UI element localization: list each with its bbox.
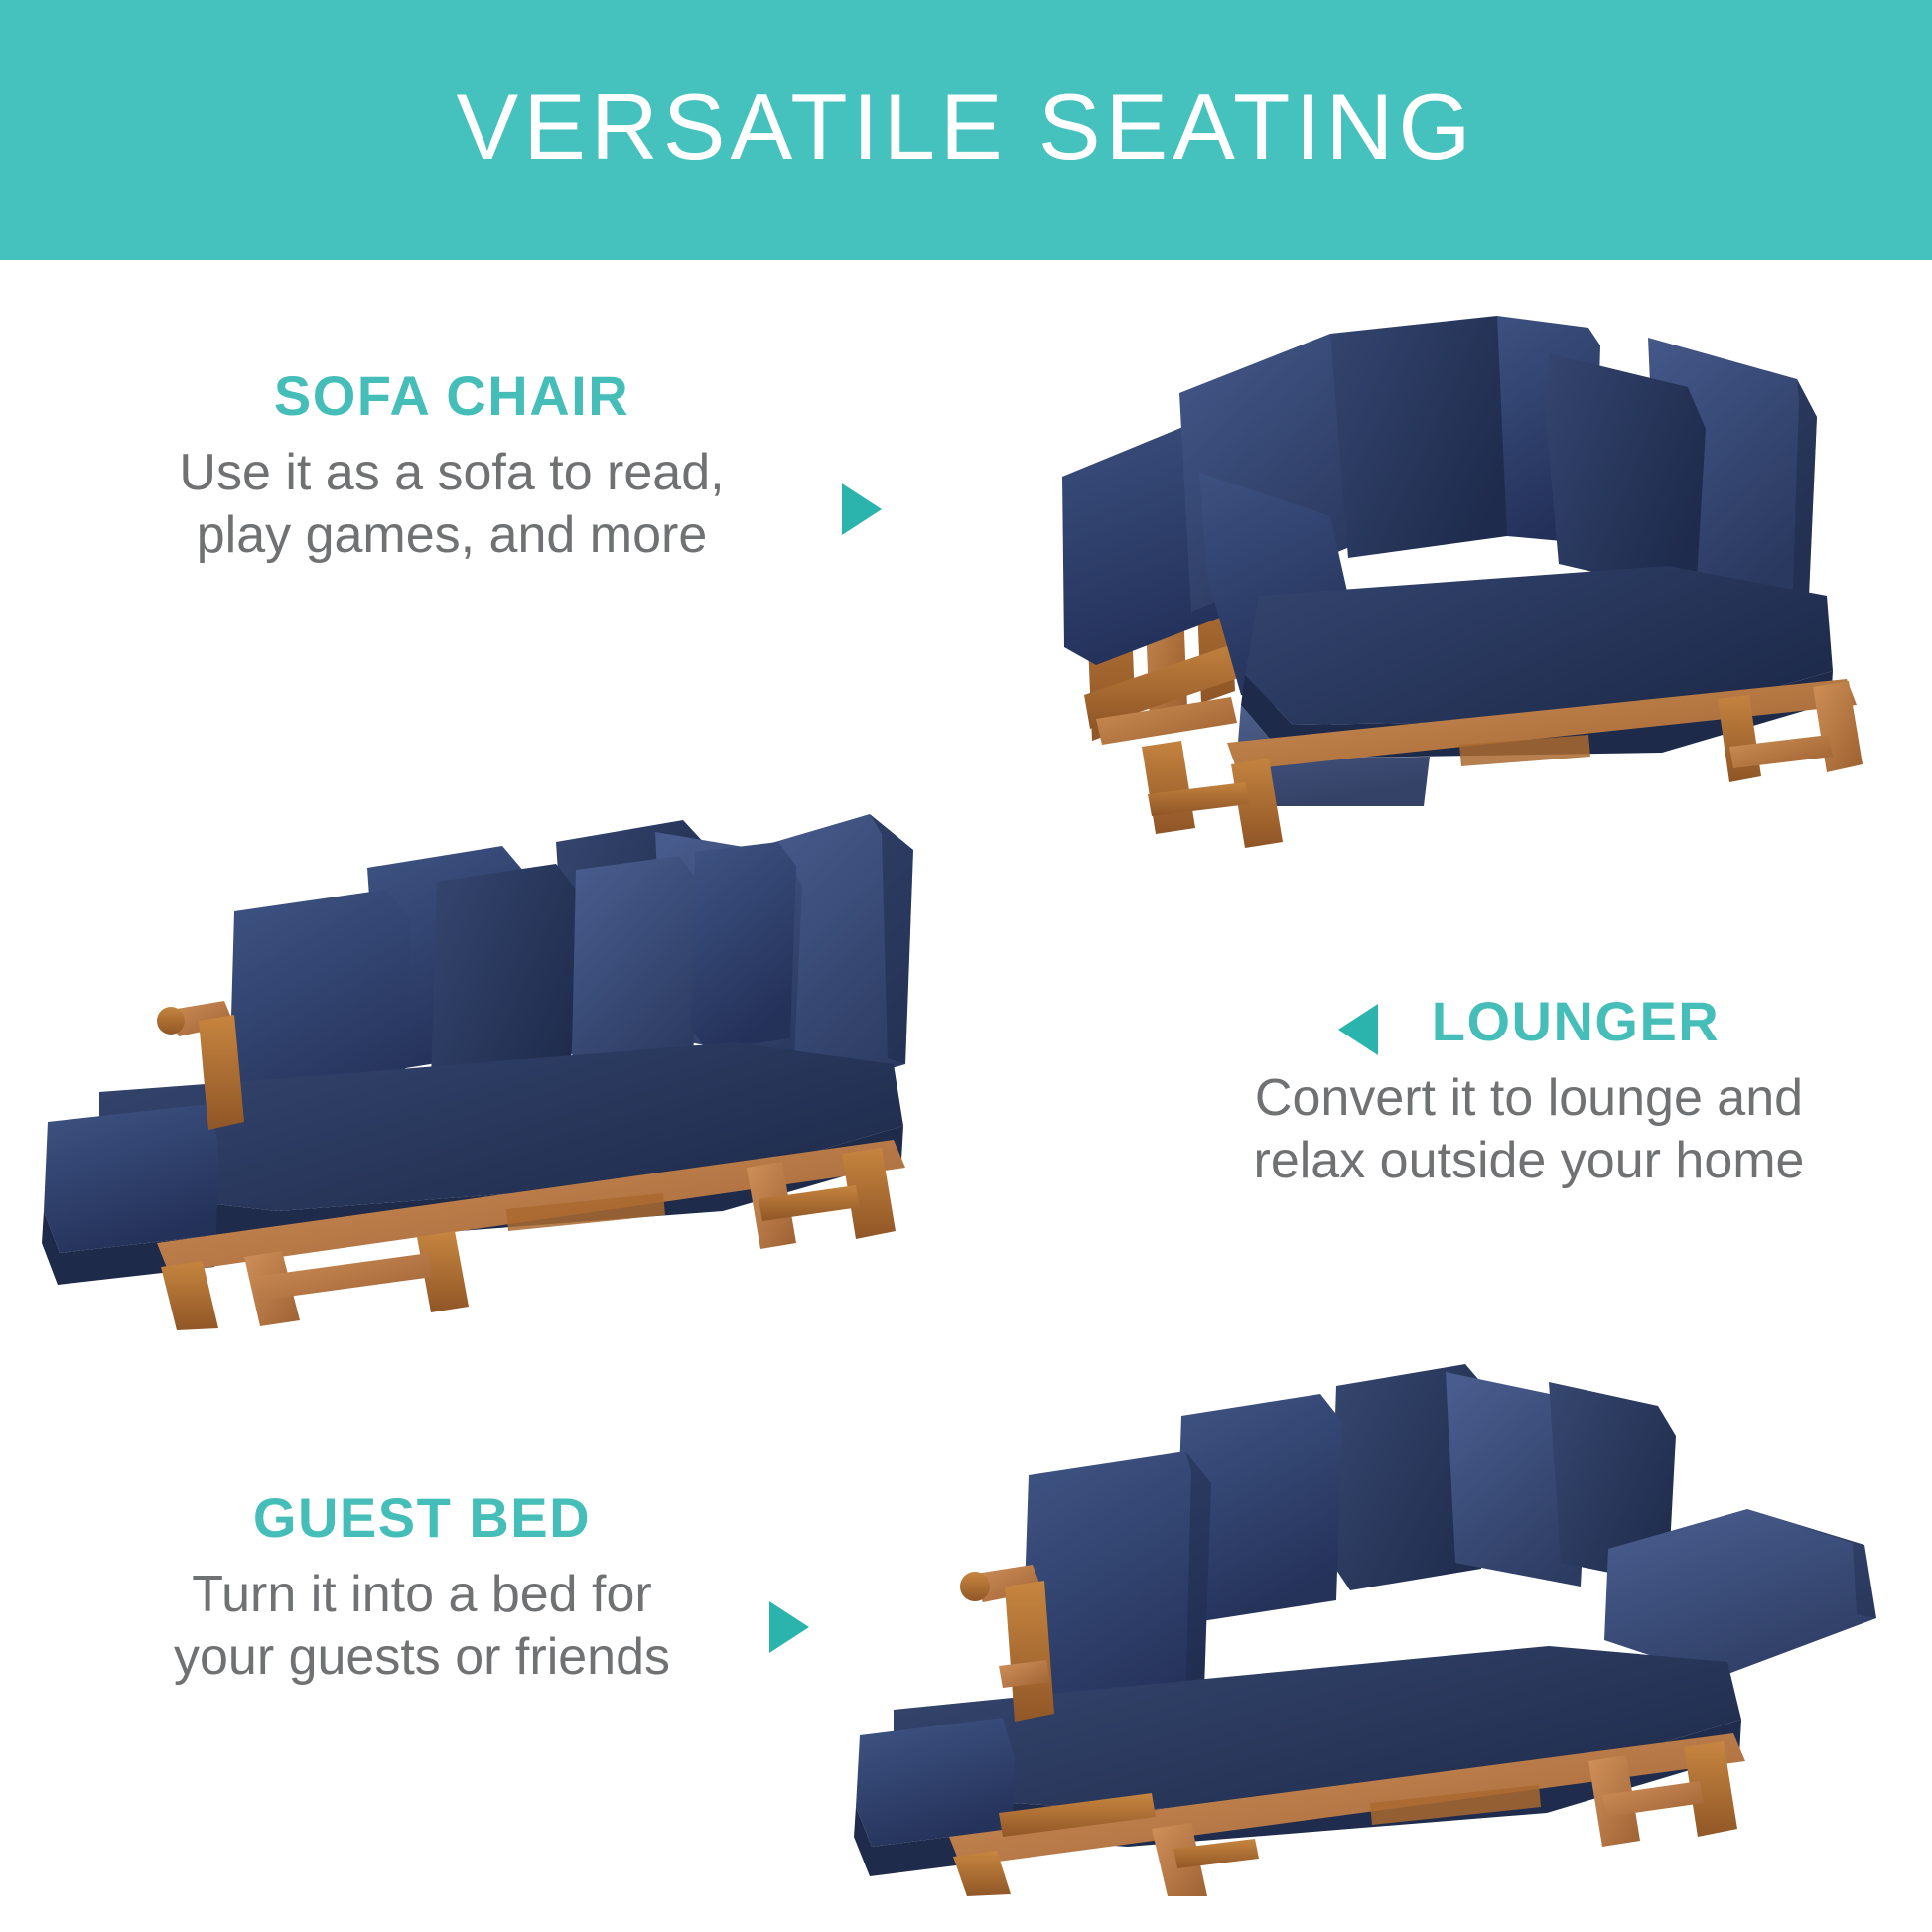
feature-description-lounger: Convert it to lounge and relax outside y…: [1172, 1067, 1886, 1193]
feature-description-sofa-chair: Use it as a sofa to read, play games, an…: [89, 442, 814, 568]
feature-desc-line-1: Turn it into a bed for: [60, 1564, 784, 1626]
pillow-3: [572, 856, 699, 1078]
pillow-4: [691, 842, 796, 1050]
feature-desc-line-1: Convert it to lounge and: [1172, 1067, 1886, 1130]
feature-heading-sofa-chair: SOFA CHAIR: [89, 367, 814, 426]
feature-heading-guest-bed: GUEST BED: [60, 1489, 784, 1548]
product-photo-lounger: [40, 794, 1023, 1330]
feature-block-lounger: LOUNGER Convert it to lounge and relax o…: [1172, 993, 1886, 1193]
feature-desc-line-2: relax outside your home: [1172, 1130, 1886, 1192]
header-banner: VERSATILE SEATING: [0, 0, 1932, 260]
product-photo-guest-bed: [854, 1320, 1906, 1896]
feature-heading-lounger: LOUNGER: [1432, 993, 1721, 1051]
wood-armrest-left: [960, 1565, 1054, 1722]
arrow-right-icon-guest-bed: [769, 1601, 809, 1653]
feature-block-guest-bed: GUEST BED Turn it into a bed for your gu…: [60, 1489, 784, 1690]
feature-desc-line-2: your guests or friends: [60, 1626, 784, 1689]
page-title: VERSATILE SEATING: [457, 80, 1476, 180]
pillow-right-arm: [1545, 353, 1706, 596]
product-photo-sofa-chair: [1033, 298, 1926, 854]
feature-desc-line-2: play games, and more: [89, 504, 814, 567]
feature-block-sofa-chair: SOFA CHAIR Use it as a sofa to read, pla…: [89, 367, 814, 568]
cushion-folded-end: [856, 1718, 1015, 1847]
cushion-folded-left: [44, 1104, 218, 1253]
cushion-back-center: [1330, 316, 1515, 558]
arrow-right-icon-sofa-chair: [842, 483, 882, 535]
feature-description-guest-bed: Turn it into a bed for your guests or fr…: [60, 1564, 784, 1690]
arrow-left-icon-lounger: [1338, 1004, 1378, 1055]
feature-desc-line-1: Use it as a sofa to read,: [89, 442, 814, 504]
